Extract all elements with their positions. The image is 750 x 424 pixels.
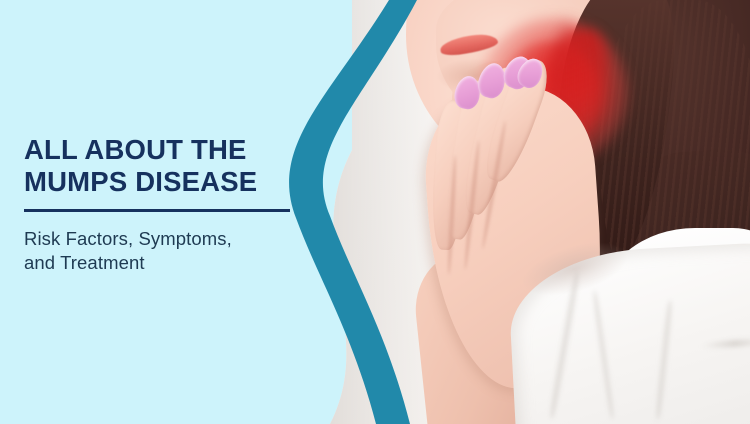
subheading-line-1: Risk Factors, Symptoms, xyxy=(24,227,314,251)
headline-line-1: ALL ABOUT THE xyxy=(24,134,314,166)
text-panel: ALL ABOUT THE MUMPS DISEASE Risk Factors… xyxy=(0,0,330,424)
subheading-line-2: and Treatment xyxy=(24,251,314,275)
mumps-disease-banner: ALL ABOUT THE MUMPS DISEASE Risk Factors… xyxy=(0,0,750,424)
title-divider xyxy=(24,209,290,212)
page-subtitle: Risk Factors, Symptoms, and Treatment xyxy=(24,227,314,275)
headline-line-2: MUMPS DISEASE xyxy=(24,166,314,198)
page-title: ALL ABOUT THE MUMPS DISEASE xyxy=(24,134,314,198)
